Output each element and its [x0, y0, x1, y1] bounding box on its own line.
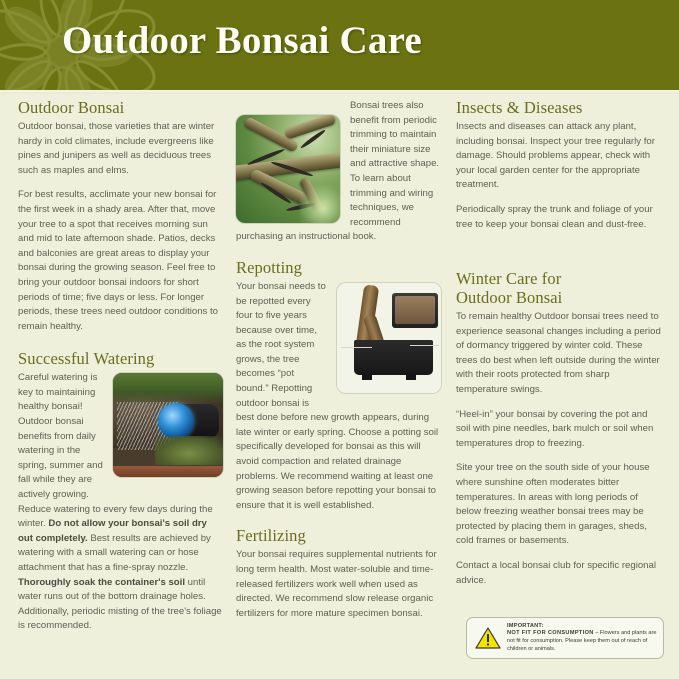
poster-page: Outdoor Bonsai Care Outdoor Bonsai Outdo…: [0, 0, 679, 679]
section-heading-winter-care: Winter Care forOutdoor Bonsai: [456, 270, 663, 308]
warning-line-1: IMPORTANT:: [507, 623, 658, 631]
right-column: Insects & Diseases Insects and diseases …: [456, 99, 663, 588]
paragraph-watering-2: Reduce watering to every few days during…: [18, 503, 223, 634]
page-title: Outdoor Bonsai Care: [62, 18, 422, 63]
section-heading-successful-watering: Successful Watering: [18, 350, 223, 369]
page-header: Outdoor Bonsai Care: [0, 0, 679, 90]
section-heading-repotting: Repotting: [236, 259, 441, 278]
warning-box: IMPORTANT: NOT FIT FOR CONSUMPTION – Flo…: [466, 617, 664, 659]
paragraph-insects-2: Periodically spray the trunk and foliage…: [456, 203, 663, 232]
winter-care-heading-line2: Outdoor Bonsai: [456, 288, 562, 307]
winter-care-heading-line1: Winter Care for: [456, 269, 561, 288]
section-heading-fertilizing: Fertilizing: [236, 527, 441, 546]
section-heading-insects-diseases: Insects & Diseases: [456, 99, 663, 118]
middle-column: Bonsai trees also benefit from periodic …: [236, 99, 441, 621]
warning-line-2: NOT FIT FOR CONSUMPTION: [507, 630, 594, 636]
left-column: Outdoor Bonsai Outdoor bonsai, those var…: [18, 99, 223, 634]
section-heading-outdoor-bonsai: Outdoor Bonsai: [18, 99, 223, 118]
warning-triangle-icon: [475, 626, 501, 650]
content-columns: Outdoor Bonsai Outdoor bonsai, those var…: [0, 99, 679, 679]
paragraph-outdoor-bonsai-1: Outdoor bonsai, those varieties that are…: [18, 120, 223, 178]
bonsai-pot-repotting-photo: [337, 283, 441, 393]
paragraph-outdoor-bonsai-2: For best results, acclimate your new bon…: [18, 188, 223, 334]
paragraph-winter-1: To remain healthy Outdoor bonsai trees n…: [456, 310, 663, 398]
header-divider: [0, 90, 679, 94]
watering-bold-2: Thoroughly soak the container's soil: [18, 577, 185, 588]
paragraph-winter-4: Contact a local bonsai club for specific…: [456, 559, 663, 588]
warning-text: IMPORTANT: NOT FIT FOR CONSUMPTION – Flo…: [507, 623, 658, 653]
paragraph-winter-3: Site your tree on the south side of your…: [456, 461, 663, 549]
paragraph-winter-2: “Heel-in” your bonsai by covering the po…: [456, 408, 663, 452]
paragraph-fertilizing: Your bonsai requires supplemental nutrie…: [236, 548, 441, 621]
watering-hose-nozzle-photo: [113, 373, 223, 477]
paragraph-insects-1: Insects and diseases can attack any plan…: [456, 120, 663, 193]
bonsai-branch-wiring-photo: [236, 115, 340, 223]
